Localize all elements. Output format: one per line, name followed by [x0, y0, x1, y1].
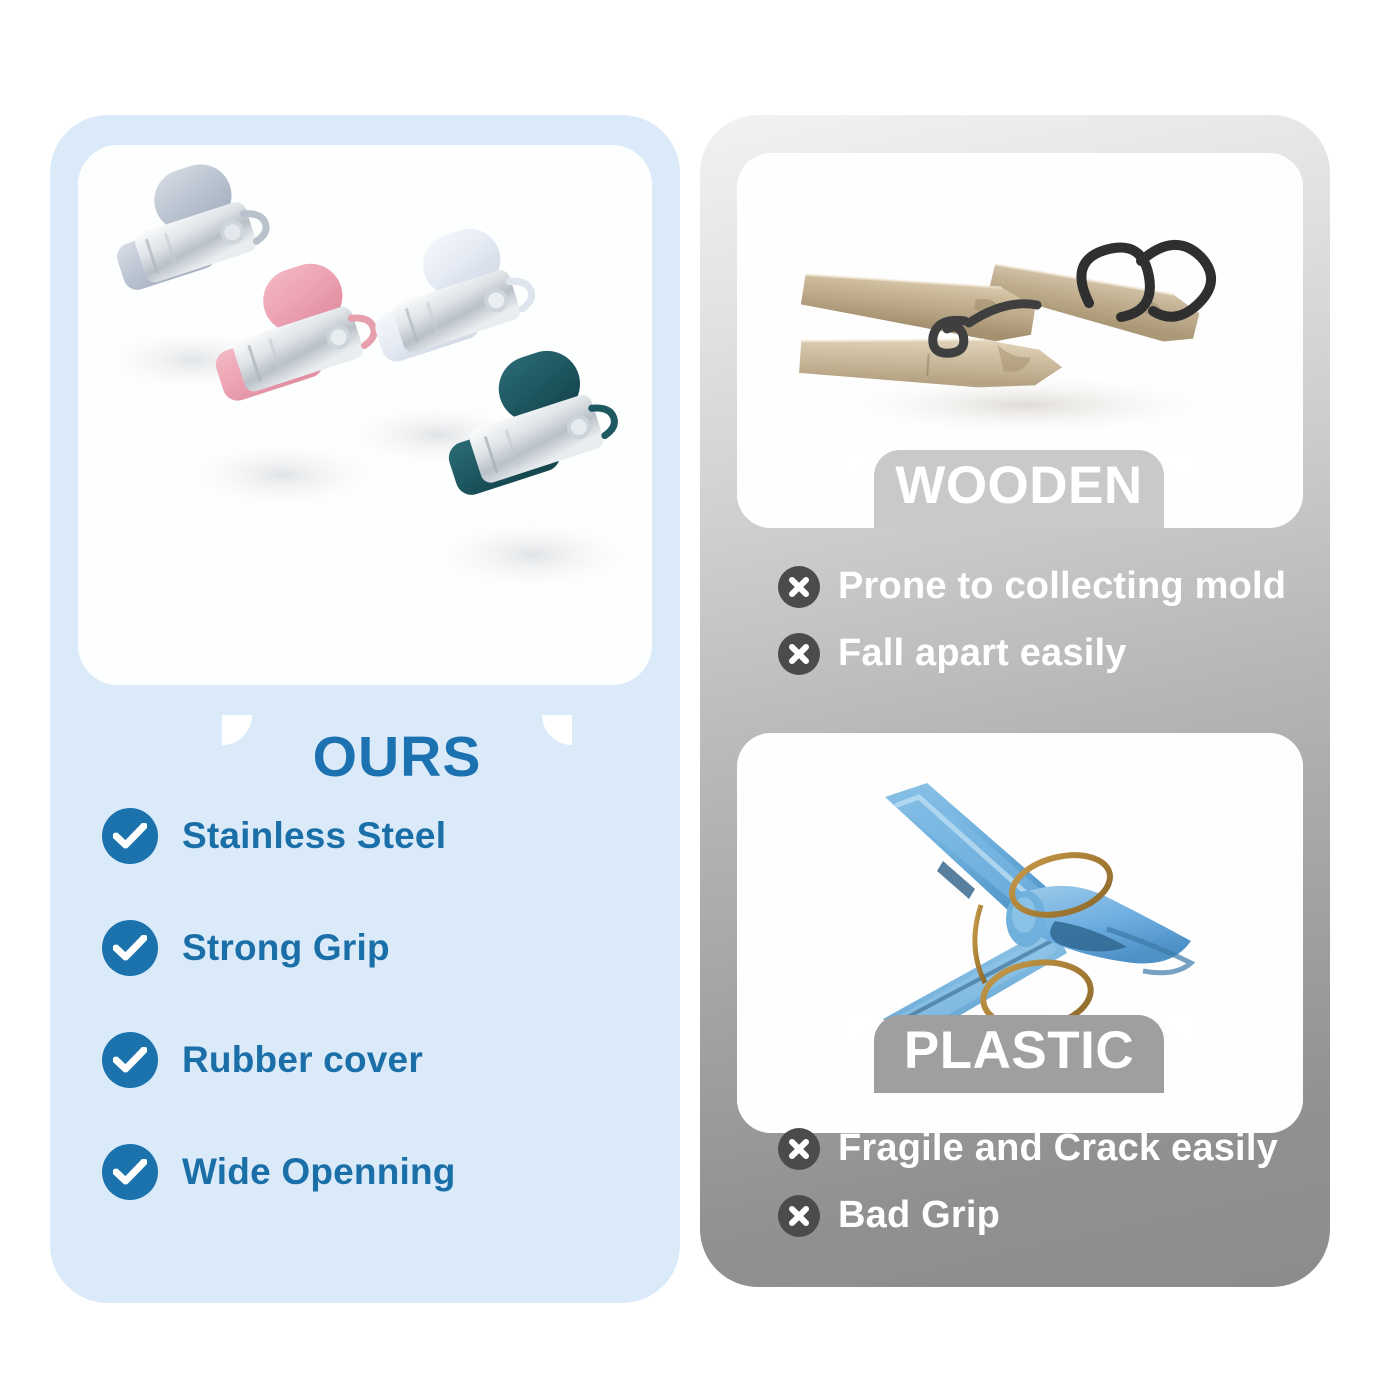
list-item: Stainless Steel: [102, 780, 642, 892]
check-icon: [102, 808, 158, 864]
x-icon: [778, 1195, 820, 1237]
plastic-drawback-label: Fragile and Crack easily: [838, 1127, 1278, 1170]
wooden-drawback-label: Prone to collecting mold: [838, 565, 1286, 608]
plastic-tab: PLASTIC: [874, 1015, 1164, 1093]
competitors-panel: WOODEN Prone to collecting mold Fall apa…: [700, 115, 1330, 1287]
list-item: Fragile and Crack easily: [778, 1115, 1318, 1182]
plastic-tab-label: PLASTIC: [874, 1024, 1164, 1077]
list-item: Strong Grip: [102, 892, 642, 1004]
wooden-tab-label: WOODEN: [874, 459, 1164, 512]
list-item: Fall apart easily: [778, 620, 1318, 687]
ours-feature-label: Stainless Steel: [182, 815, 446, 857]
wooden-tab: WOODEN: [874, 450, 1164, 528]
ours-tab-label: OURS: [252, 729, 542, 786]
ours-feature-label: Wide Openning: [182, 1151, 456, 1193]
plastic-drawback-list: Fragile and Crack easily Bad Grip: [778, 1115, 1318, 1249]
x-icon: [778, 566, 820, 608]
x-icon: [778, 633, 820, 675]
list-item: Bad Grip: [778, 1182, 1318, 1249]
wooden-drawback-list: Prone to collecting mold Fall apart easi…: [778, 553, 1318, 687]
ours-panel: OURS Stainless Steel Strong Grip: [50, 115, 680, 1303]
list-item: Prone to collecting mold: [778, 553, 1318, 620]
check-icon: [102, 1032, 158, 1088]
ours-product-card: [78, 145, 652, 685]
plastic-drawback-label: Bad Grip: [838, 1194, 1000, 1237]
list-item: Rubber cover: [102, 1004, 642, 1116]
ours-product-photo: [78, 145, 652, 685]
ours-feature-list: Stainless Steel Strong Grip Rubber cover: [102, 780, 642, 1228]
ours-feature-label: Rubber cover: [182, 1039, 423, 1081]
list-item: Wide Openning: [102, 1116, 642, 1228]
wooden-drawback-label: Fall apart easily: [838, 632, 1127, 675]
comparison-infographic: OURS Stainless Steel Strong Grip: [0, 0, 1400, 1400]
ours-feature-label: Strong Grip: [182, 927, 390, 969]
x-icon: [778, 1128, 820, 1170]
check-icon: [102, 1144, 158, 1200]
check-icon: [102, 920, 158, 976]
